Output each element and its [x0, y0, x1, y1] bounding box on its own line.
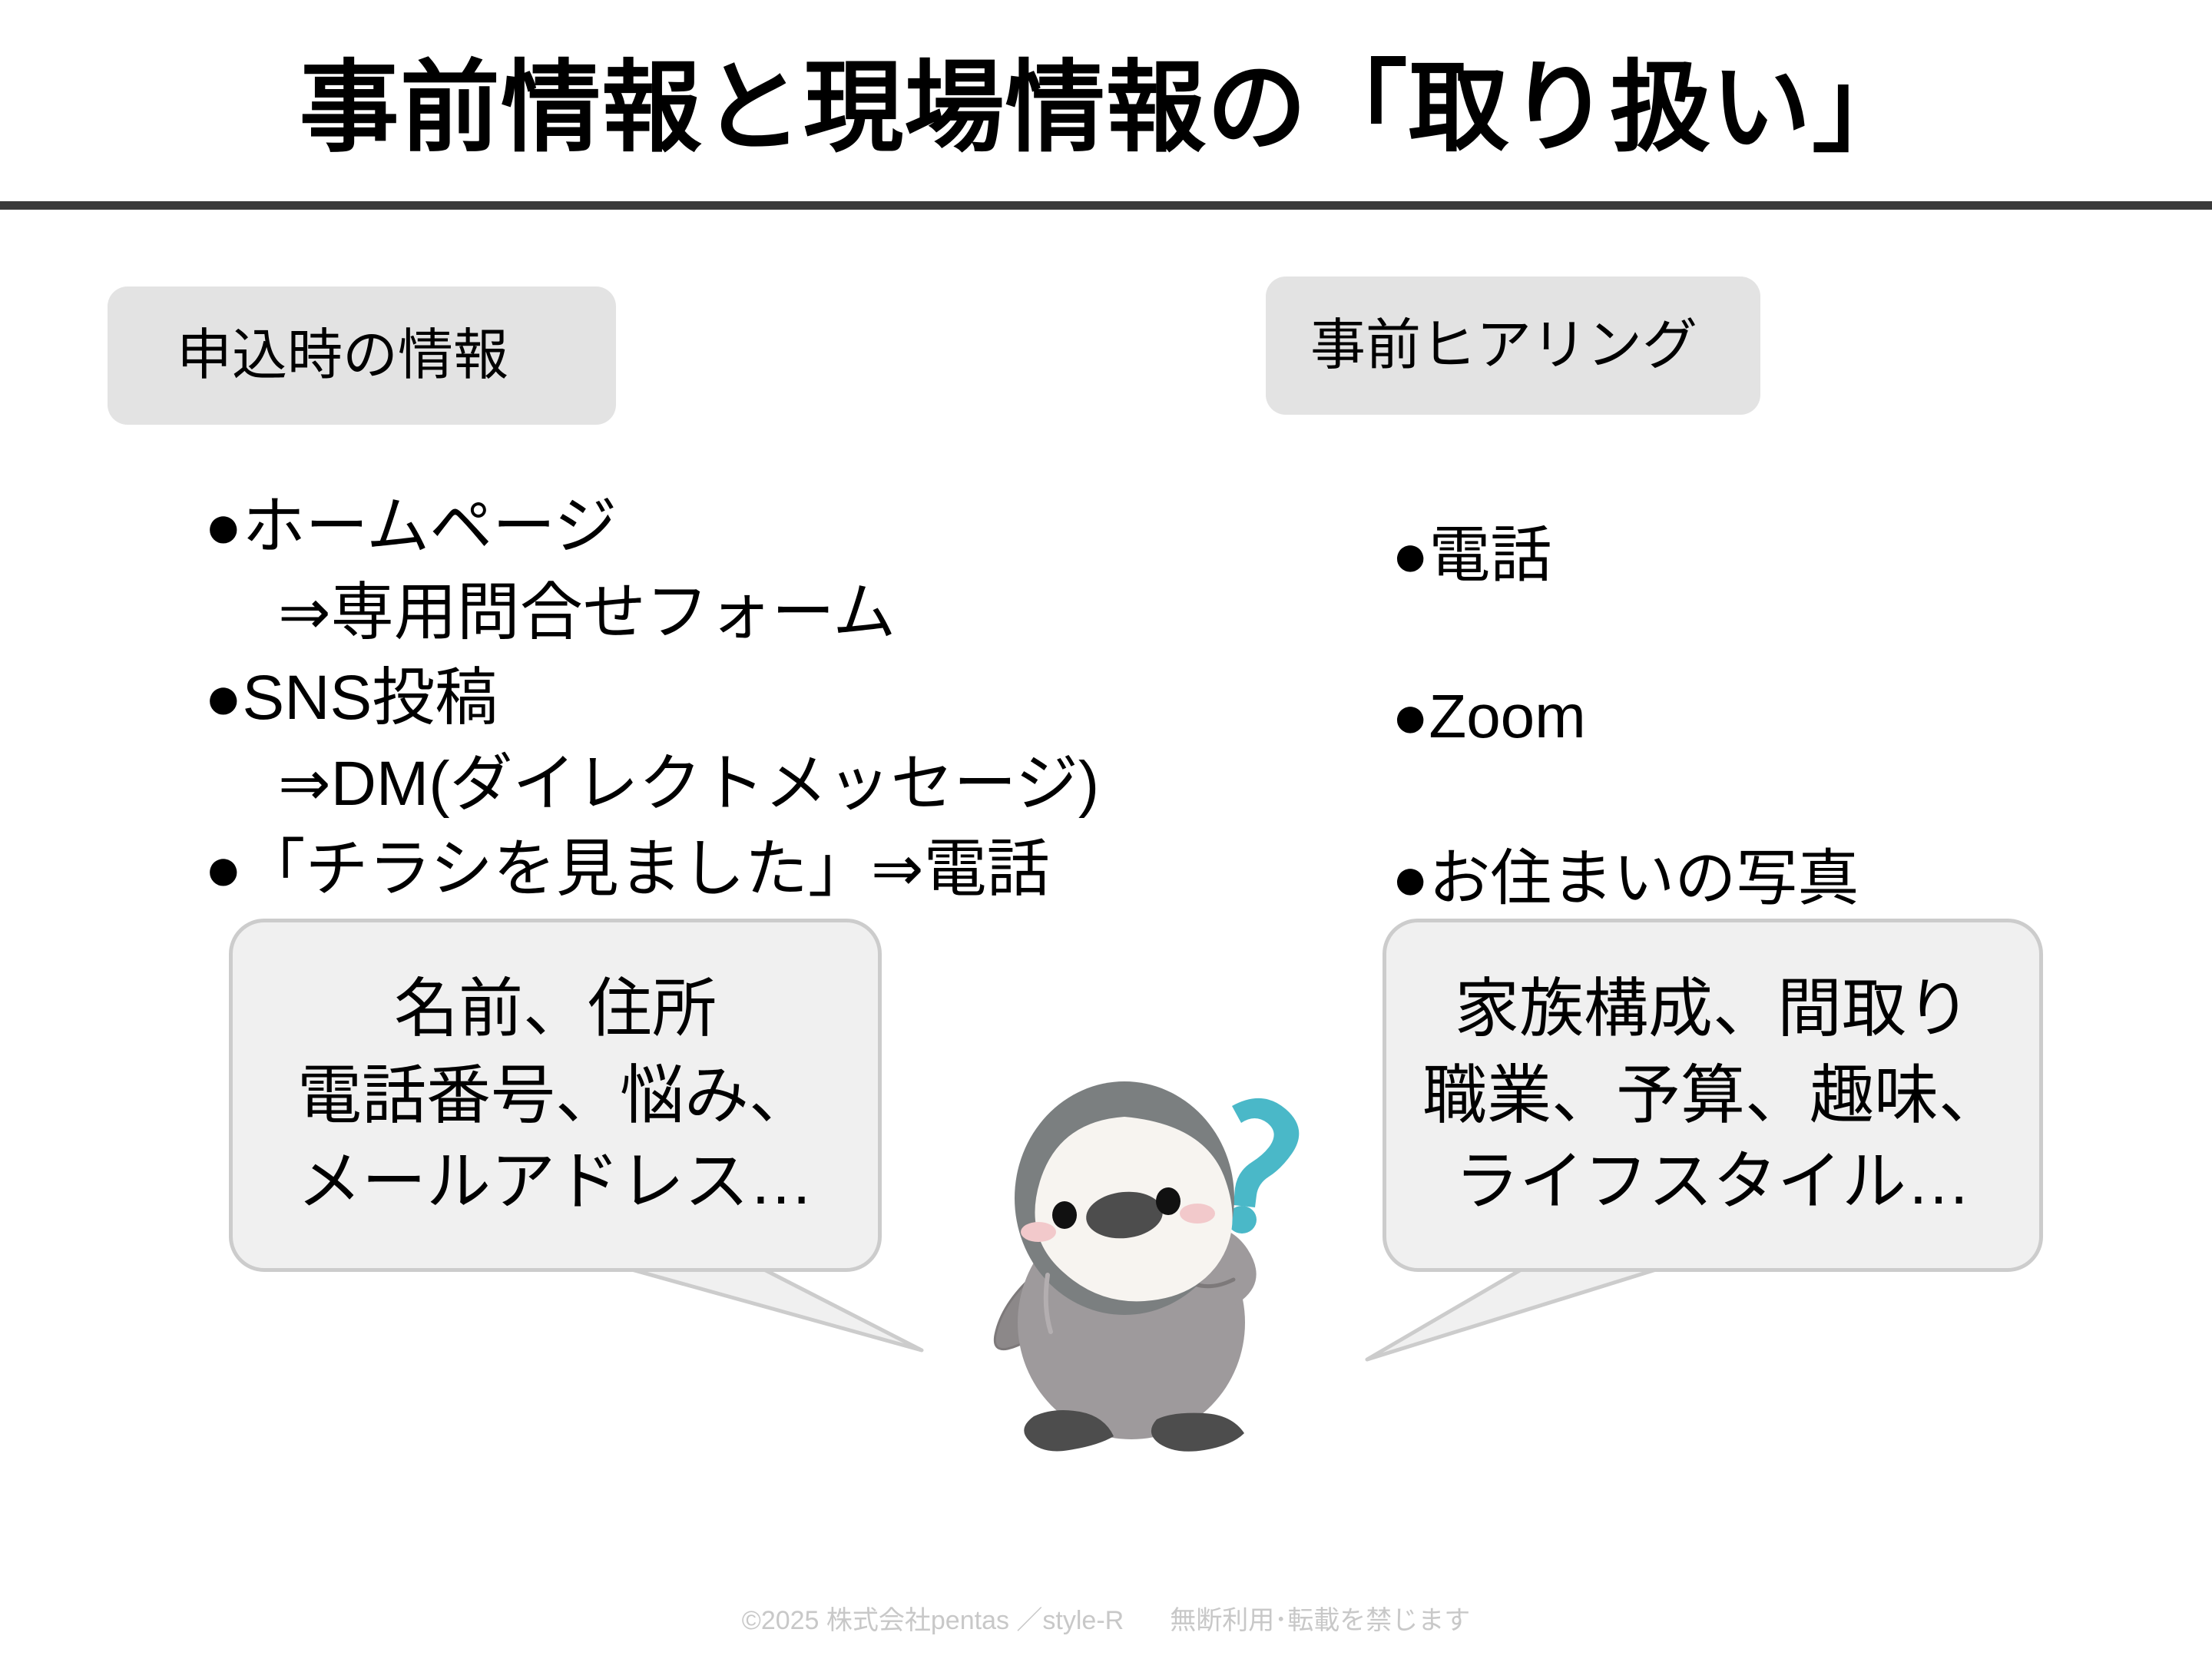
section-pill-application-info: 申込時の情報	[108, 286, 616, 425]
section-pill-label-left: 申込時の情報	[177, 328, 508, 383]
cheek-right	[1180, 1204, 1215, 1224]
list-item-text: ●「チラシを見ました」⇒電話	[204, 834, 1050, 904]
title-divider-rule	[0, 201, 2212, 210]
footer: ©2025 株式会社pentas ／style-R無断利用･転載を禁じます	[0, 1599, 2212, 1637]
list-item-text: ⇒専用問合せフォーム	[278, 578, 896, 647]
speech-bubble-line: 家族構成、間取り	[1455, 965, 1971, 1052]
footer-notice: 無断利用･転載を禁じます	[1170, 1606, 1470, 1635]
list-item: ●「チラシを見ました」⇒電話	[204, 826, 1099, 912]
foot-right	[1151, 1413, 1244, 1452]
list-item-text: ●電話	[1392, 521, 1551, 589]
list-item-text: ⇒DM(ダイレクトメッセージ)	[278, 749, 1099, 819]
list-item-text: ●お住まいの写真	[1392, 844, 1859, 912]
list-item-text: ●SNS投稿	[204, 663, 498, 733]
question-mark-icon	[1227, 1098, 1299, 1233]
cheek-left	[1021, 1222, 1056, 1242]
list-item: ⇒DM(ダイレクトメッセージ)	[204, 741, 1099, 827]
speech-bubble-left: 名前、住所 電話番号、悩み、 メールアドレス…	[229, 919, 882, 1272]
section-pill-pre-hearing: 事前ヒアリング	[1266, 276, 1760, 415]
list-item: ●SNS投稿	[204, 655, 1099, 741]
speech-bubble-line: メールアドレス…	[297, 1138, 813, 1225]
bullet-list-right: ●電話 ●Zoom ●お住まいの写真	[1392, 475, 1859, 959]
penguin-thinking-icon	[974, 1069, 1312, 1469]
speech-bubble-line: 電話番号、悩み、	[297, 1052, 813, 1139]
list-item: ⇒専用問合せフォーム	[204, 570, 1099, 656]
list-item-text: ●ホームページ	[204, 492, 617, 561]
list-item: ●Zoom	[1392, 636, 1859, 797]
list-item-text: ●Zoom	[1392, 682, 1586, 750]
page-title: 事前情報と現場情報の「取り扱い」	[300, 55, 1913, 161]
list-item: ●電話	[1392, 475, 1859, 636]
title-area: 事前情報と現場情報の「取り扱い」	[0, 31, 2212, 184]
slide-canvas: 事前情報と現場情報の「取り扱い」 申込時の情報 事前ヒアリング ●ホームページ …	[0, 0, 2212, 1659]
speech-bubble-line: ライフスタイル…	[1455, 1138, 1971, 1225]
eye-right	[1156, 1187, 1181, 1215]
eye-left	[1052, 1201, 1077, 1229]
speech-bubble-right: 家族構成、間取り 職業、予算、趣味、 ライフスタイル…	[1382, 919, 2043, 1272]
footer-copyright: ©2025 株式会社pentas ／style-R	[742, 1606, 1124, 1635]
speech-bubble-line: 名前、住所	[394, 965, 717, 1052]
section-pill-label-right: 事前ヒアリング	[1310, 318, 1697, 373]
list-item: ●ホームページ	[204, 484, 1099, 570]
speech-bubble-line: 職業、予算、趣味、	[1422, 1052, 2003, 1139]
bullet-list-left: ●ホームページ ⇒専用問合せフォーム ●SNS投稿 ⇒DM(ダイレクトメッセージ…	[204, 484, 1099, 912]
